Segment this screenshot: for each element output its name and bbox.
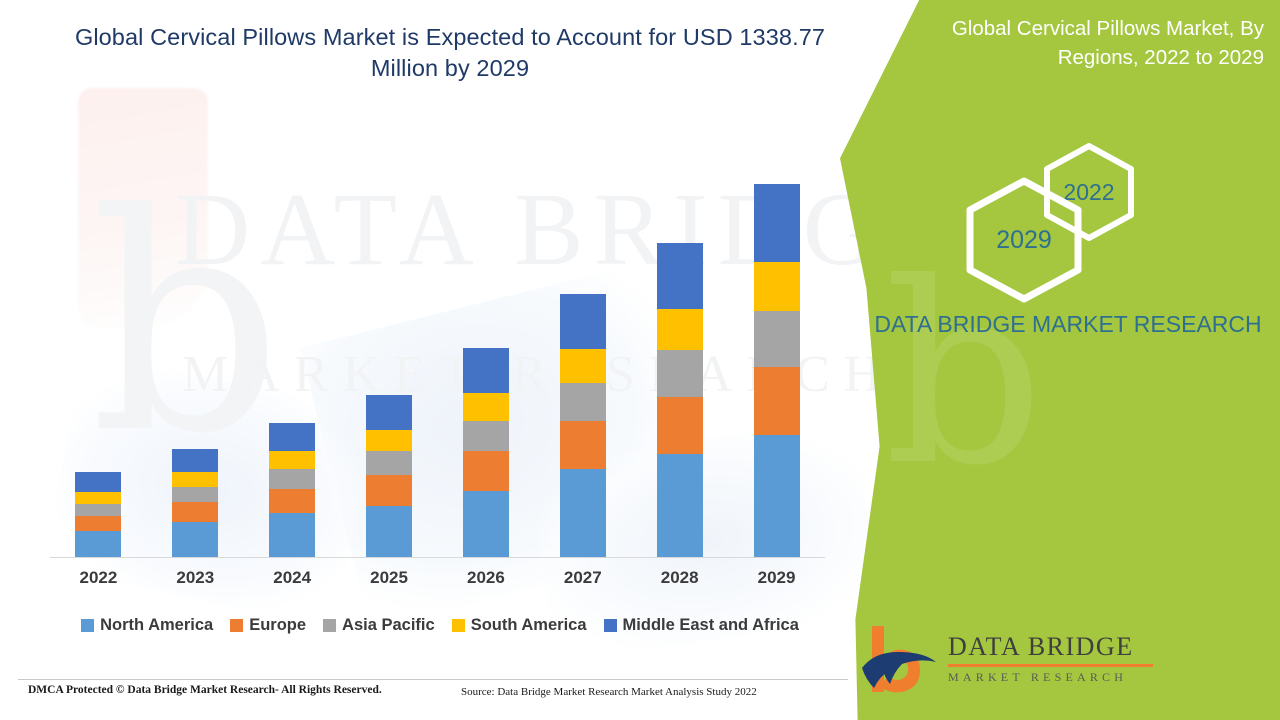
legend-item[interactable]: South America [452, 616, 587, 635]
bar-column [147, 120, 243, 557]
bar-segment [657, 350, 703, 397]
green-side-panel: b Global Cervical Pillows Market, By Reg… [840, 0, 1280, 720]
bar-segment [172, 522, 218, 557]
bar-group [50, 120, 825, 557]
bar-stack [75, 472, 121, 557]
x-axis-label: 2026 [438, 568, 534, 588]
legend-item[interactable]: North America [81, 616, 213, 635]
legend-item[interactable]: Middle East and Africa [604, 616, 799, 635]
bar-column [535, 120, 631, 557]
x-axis-label: 2029 [729, 568, 825, 588]
x-axis-line [50, 557, 825, 558]
legend-item[interactable]: Europe [230, 616, 306, 635]
bar-stack [172, 449, 218, 557]
bar-segment [463, 348, 509, 393]
x-axis-label: 2023 [147, 568, 243, 588]
bar-segment [560, 421, 606, 469]
bar-stack [560, 294, 606, 557]
hexagon-label-end: 2029 [965, 176, 1083, 304]
infographic-root: b DATA BRIDGE MARKET RESEARCH Global Cer… [0, 0, 1280, 720]
footer-source: Source: Data Bridge Market Research Mark… [461, 686, 757, 698]
bar-segment [657, 243, 703, 309]
x-axis-label: 2027 [535, 568, 631, 588]
bar-column [438, 120, 534, 557]
legend-item[interactable]: Asia Pacific [323, 616, 435, 635]
legend-label: Europe [249, 616, 306, 635]
bar-segment [75, 492, 121, 504]
bar-segment [657, 309, 703, 350]
bar-segment [269, 451, 315, 469]
bar-segment [172, 449, 218, 473]
legend-label: South America [471, 616, 587, 635]
bar-column [341, 120, 437, 557]
logo-mark-icon [858, 622, 942, 696]
chart-legend: North AmericaEuropeAsia PacificSouth Ame… [50, 616, 830, 635]
x-axis-labels: 20222023202420252026202720282029 [50, 568, 825, 588]
page-title: Global Cervical Pillows Market is Expect… [70, 22, 830, 84]
hexagon-badge-2029: 2029 [965, 176, 1083, 304]
bar-segment [172, 502, 218, 522]
bar-segment [560, 294, 606, 349]
bar-segment [172, 487, 218, 503]
bar-segment [754, 262, 800, 311]
bar-column [50, 120, 146, 557]
footer-copyright: DMCA Protected © Data Bridge Market Rese… [28, 684, 382, 696]
bar-segment [366, 395, 412, 431]
legend-swatch-icon [81, 619, 94, 632]
bar-segment [463, 421, 509, 451]
bar-segment [560, 383, 606, 421]
bar-segment [75, 472, 121, 492]
bar-segment [75, 504, 121, 516]
bar-column [244, 120, 340, 557]
bar-segment [269, 423, 315, 451]
logo-title: DATA BRIDGE [948, 632, 1153, 662]
bar-segment [75, 531, 121, 557]
bar-segment [560, 349, 606, 383]
bar-segment [657, 454, 703, 557]
bar-segment [754, 184, 800, 262]
bar-stack [463, 348, 509, 557]
legend-swatch-icon [604, 619, 617, 632]
panel-brand-name: DATA BRIDGE MARKET RESEARCH [870, 308, 1266, 341]
bar-segment [269, 513, 315, 557]
x-axis-label: 2028 [632, 568, 728, 588]
x-axis-label: 2024 [244, 568, 340, 588]
bar-segment [366, 475, 412, 506]
bar-segment [366, 506, 412, 557]
legend-swatch-icon [452, 619, 465, 632]
legend-swatch-icon [230, 619, 243, 632]
logo-underline [948, 664, 1153, 667]
x-axis-label: 2025 [341, 568, 437, 588]
bar-segment [463, 451, 509, 491]
bar-segment [366, 430, 412, 451]
legend-label: Asia Pacific [342, 616, 435, 635]
logo-text-block: DATA BRIDGE MARKET RESEARCH [948, 632, 1153, 685]
legend-label: Middle East and Africa [623, 616, 799, 635]
bar-segment [754, 435, 800, 557]
bar-segment [657, 397, 703, 454]
bar-segment [463, 393, 509, 421]
legend-label: North America [100, 616, 213, 635]
bar-segment [366, 451, 412, 475]
chart-plot-area [50, 120, 825, 558]
bar-segment [754, 311, 800, 368]
bar-column [632, 120, 728, 557]
hexagon-badges: 2022 2029 [840, 0, 1280, 300]
bar-segment [560, 469, 606, 557]
logo-subtitle: MARKET RESEARCH [948, 670, 1153, 685]
bar-segment [754, 367, 800, 434]
bar-stack [366, 395, 412, 557]
bar-stack [754, 184, 800, 557]
bar-segment [269, 469, 315, 488]
legend-swatch-icon [323, 619, 336, 632]
bar-segment [463, 491, 509, 557]
bar-segment [269, 489, 315, 514]
company-logo: DATA BRIDGE MARKET RESEARCH [858, 620, 1268, 700]
bar-stack [657, 243, 703, 557]
bar-stack [269, 423, 315, 557]
bar-column [729, 120, 825, 557]
footer-divider [18, 679, 848, 680]
bar-segment [172, 472, 218, 487]
x-axis-label: 2022 [50, 568, 146, 588]
bar-segment [75, 516, 121, 532]
